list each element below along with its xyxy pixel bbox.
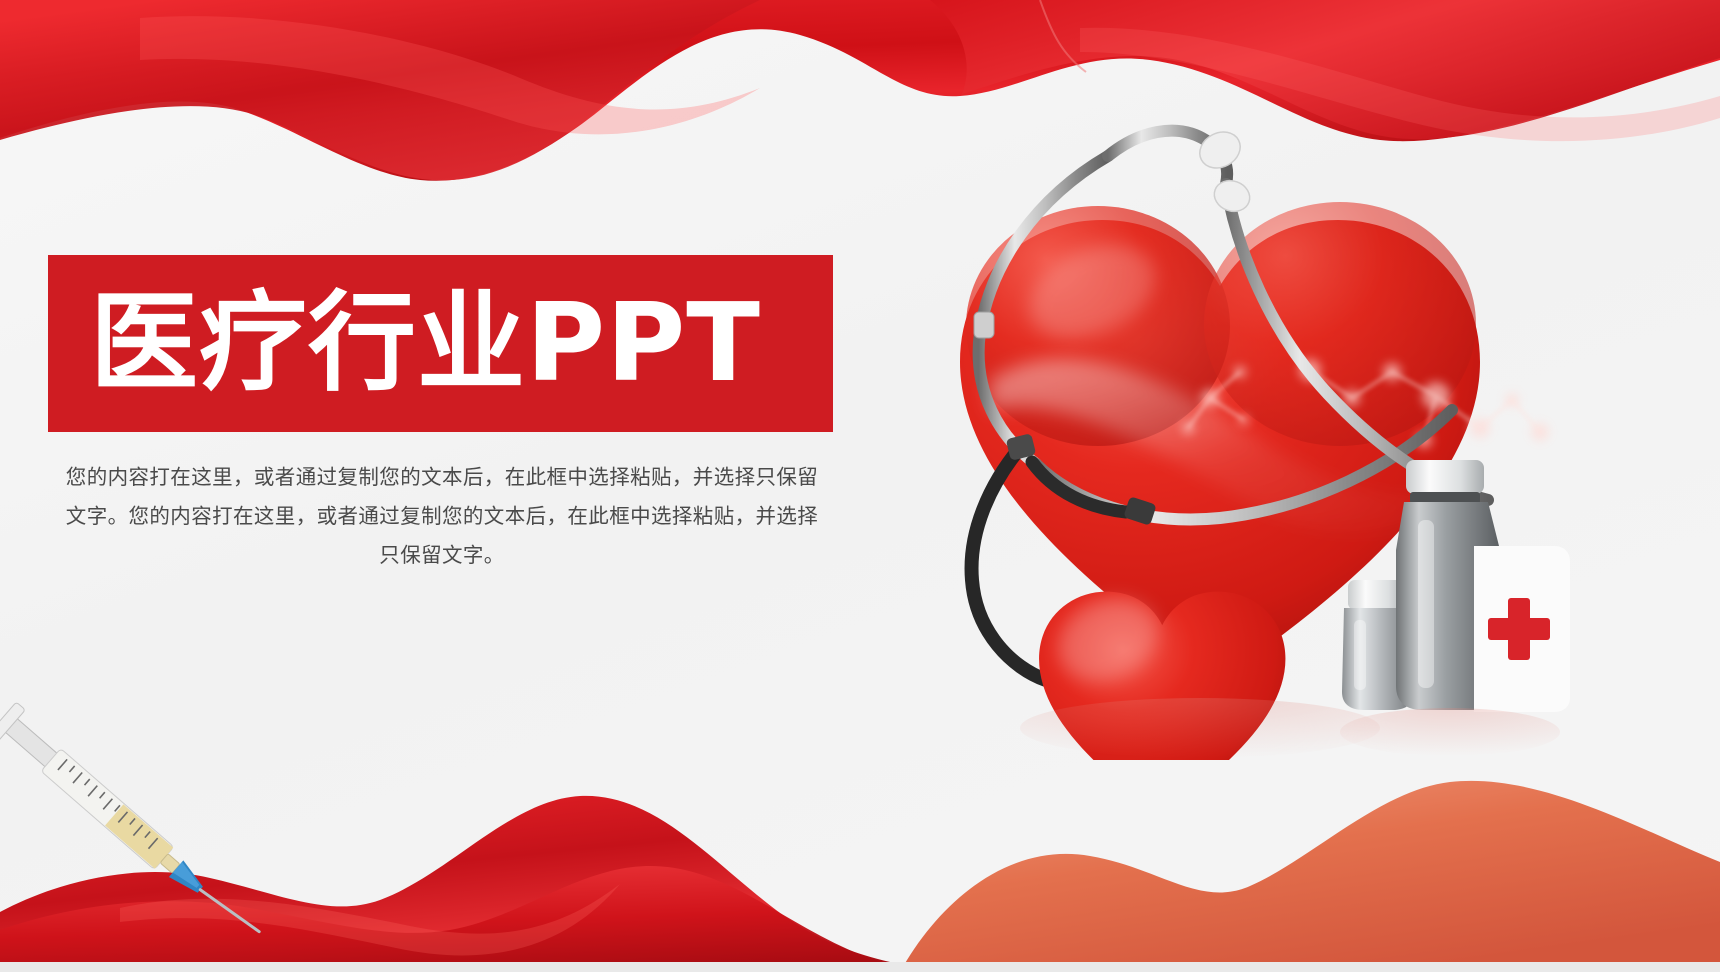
slide-bottom-strip: [0, 962, 1720, 972]
artwork-svg: [840, 80, 1600, 760]
slide-canvas: 医疗行业PPT 您的内容打在这里，或者通过复制您的文本后，在此框中选择粘贴，并选…: [0, 0, 1720, 972]
bottom-ribbon-main: [0, 796, 1060, 972]
subtitle-paragraph: 您的内容打在这里，或者通过复制您的文本后，在此框中选择粘贴，并选择只保留文字。您…: [62, 458, 822, 575]
bottle-label: [1474, 546, 1570, 712]
medical-artwork: [840, 80, 1600, 760]
syringe-graduations: [58, 759, 158, 848]
bottom-ribbon-orange: [900, 781, 1720, 972]
title-banner: 医疗行业PPT: [48, 255, 833, 432]
syringe-needle-hub: [169, 860, 208, 898]
top-ribbon-fold-left: [0, 0, 760, 180]
syringe-needle: [200, 884, 259, 937]
syringe-liquid: [105, 804, 173, 868]
top-ribbon-crease: [1040, 0, 1086, 72]
bottom-ribbon-highlight: [120, 884, 620, 955]
stethoscope-earpiece-right: [1210, 176, 1254, 217]
page-title: 医疗行业PPT: [90, 290, 761, 398]
syringe-plunger: [3, 716, 60, 769]
syringe-barrel: [41, 749, 174, 870]
top-ribbon-highlight: [140, 16, 760, 134]
bottom-ribbon-front: [0, 866, 1720, 972]
